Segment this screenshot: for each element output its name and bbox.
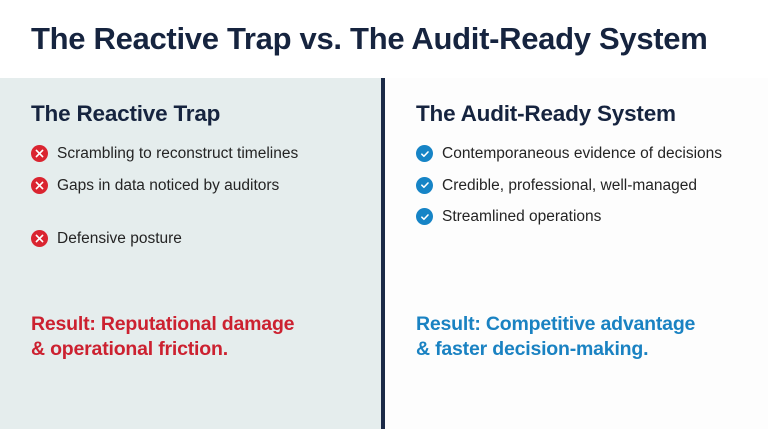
result-block-right: Result: Competitive advantage & faster d… [416, 312, 695, 362]
column-divider [381, 78, 385, 429]
list-item-label: Streamlined operations [442, 206, 601, 228]
column-heading-left: The Reactive Trap [31, 100, 359, 128]
list-item-label: Credible, professional, well-managed [442, 175, 697, 197]
list-item: Gaps in data noticed by auditors [31, 175, 359, 197]
list-item: Contemporaneous evidence of decisions [416, 143, 750, 165]
list-item: Credible, professional, well-managed [416, 175, 750, 197]
list-item: Scrambling to reconstruct timelines [31, 143, 359, 165]
list-item: Streamlined operations [416, 206, 750, 228]
result-line-2: & faster decision-making. [416, 337, 695, 362]
column-heading-right: The Audit-Ready System [416, 100, 750, 128]
bullet-list-left: Scrambling to reconstruct timelines Gaps… [31, 143, 359, 249]
circle-cross-icon [31, 177, 48, 194]
title-bar: The Reactive Trap vs. The Audit-Ready Sy… [0, 0, 768, 78]
column-reactive-trap: The Reactive Trap Scrambling to reconstr… [0, 78, 383, 429]
bullet-list-right: Contemporaneous evidence of decisions Cr… [416, 143, 750, 228]
column-audit-ready-system: The Audit-Ready System Contemporaneous e… [383, 78, 768, 429]
list-item-label: Scrambling to reconstruct timelines [57, 143, 298, 165]
result-line-1: Result: Reputational damage [31, 312, 294, 337]
list-item-label: Gaps in data noticed by auditors [57, 175, 279, 197]
list-spacer [31, 206, 359, 228]
comparison-slide: The Reactive Trap vs. The Audit-Ready Sy… [0, 0, 768, 429]
circle-check-icon [416, 177, 433, 194]
circle-cross-icon [31, 230, 48, 247]
circle-check-icon [416, 145, 433, 162]
result-line-1: Result: Competitive advantage [416, 312, 695, 337]
list-item: Defensive posture [31, 228, 359, 250]
circle-check-icon [416, 208, 433, 225]
list-item-label: Defensive posture [57, 228, 182, 250]
circle-cross-icon [31, 145, 48, 162]
list-item-label: Contemporaneous evidence of decisions [442, 143, 722, 165]
page-title: The Reactive Trap vs. The Audit-Ready Sy… [0, 21, 708, 57]
result-line-2: & operational friction. [31, 337, 294, 362]
result-block-left: Result: Reputational damage & operationa… [31, 312, 294, 362]
